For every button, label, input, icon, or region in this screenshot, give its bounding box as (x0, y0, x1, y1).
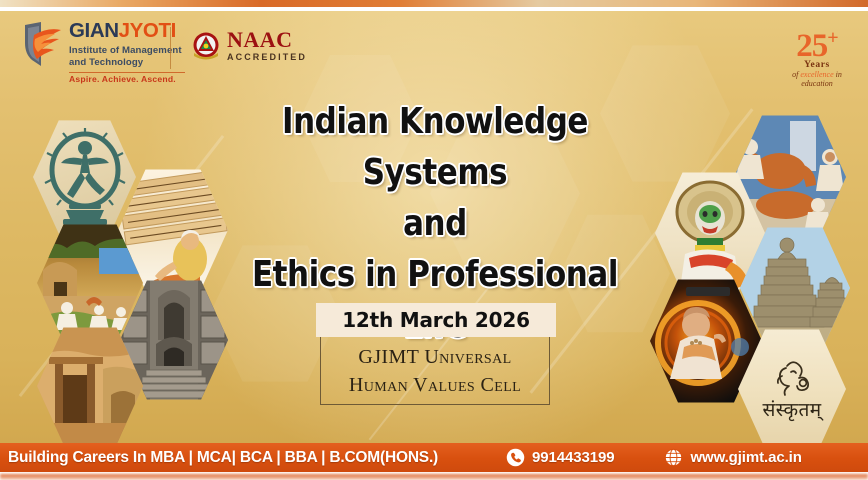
event-date-band: 12th March 2026 (316, 303, 556, 337)
anniversary-badge: 25+ Years of excellence in education (780, 23, 854, 85)
phone-icon (506, 448, 525, 467)
gianjyoti-flame-shield-logo-icon (22, 21, 62, 67)
badge-number-value: 25 (796, 28, 827, 64)
badge-line1-suffix: in (834, 70, 842, 79)
logo-wordmark: GIANJYOTI Institute of Management and Te… (69, 21, 185, 83)
naac-text: NAAC ACCREDITED (227, 29, 307, 62)
logo-divider-rule (69, 72, 185, 73)
footer-phone-group[interactable]: 9914433199 (506, 448, 614, 467)
top-accent-strip (0, 0, 868, 7)
page-title-line2: and (229, 198, 640, 249)
logo-subtitle-line1: Institute of Management (69, 45, 185, 57)
event-detail-box: 12th March 2026 GJIMT Universal Human Va… (316, 303, 556, 409)
badge-plus: + (827, 27, 837, 49)
footer-phone-number: 9914433199 (532, 449, 614, 466)
badge-line1-emphasis: excellence (800, 70, 833, 79)
poster-root: GIANJYOTI Institute of Management and Te… (0, 0, 868, 480)
badge-line1: of excellence in (780, 70, 854, 79)
naac-seal-icon (190, 30, 222, 62)
page-title-line1: Indian Knowledge Systems (229, 96, 640, 198)
organizer-box: GJIMT Universal Human Values Cell (320, 337, 550, 405)
logo-name: GIANJYOTI (69, 21, 185, 42)
poster-header: GIANJYOTI Institute of Management and Te… (0, 11, 868, 93)
sanskritam-label: संस्कृतम् (762, 396, 821, 422)
logo-name-gian: GIAN (69, 19, 119, 42)
badge-line2: education (780, 79, 854, 88)
institute-logo: GIANJYOTI Institute of Management and Te… (22, 21, 185, 83)
organizer-line2: Human Values Cell (349, 371, 521, 399)
logo-subtitle-line2: and Technology (69, 57, 185, 69)
badge-years-label: Years (780, 60, 854, 70)
footer-courses: Building Careers In MBA | MCA| BCA | BBA… (8, 449, 438, 467)
naac-accreditation: NAAC ACCREDITED (190, 29, 307, 62)
logo-subtitle: Institute of Management and Technology (69, 45, 185, 69)
footer-website-group[interactable]: www.gjimt.ac.in (664, 448, 801, 467)
organizer-line1: GJIMT Universal (358, 343, 511, 371)
ganesha-glyph-icon (769, 356, 815, 398)
footer-reflection-strip (0, 474, 868, 480)
logo-name-jyoti: JYOTI (119, 19, 176, 42)
naac-title: NAAC (227, 29, 307, 51)
footer-website-url: www.gjimt.ac.in (690, 449, 801, 466)
badge-number: 25+ (780, 23, 854, 61)
globe-icon (664, 448, 683, 467)
naac-subtitle: ACCREDITED (227, 53, 307, 62)
header-vertical-divider (170, 27, 171, 69)
event-date: 12th March 2026 (342, 308, 530, 332)
logo-tagline: Aspire. Achieve. Ascend. (69, 75, 185, 84)
footer-bar: Building Careers In MBA | MCA| BCA | BBA… (0, 443, 868, 472)
